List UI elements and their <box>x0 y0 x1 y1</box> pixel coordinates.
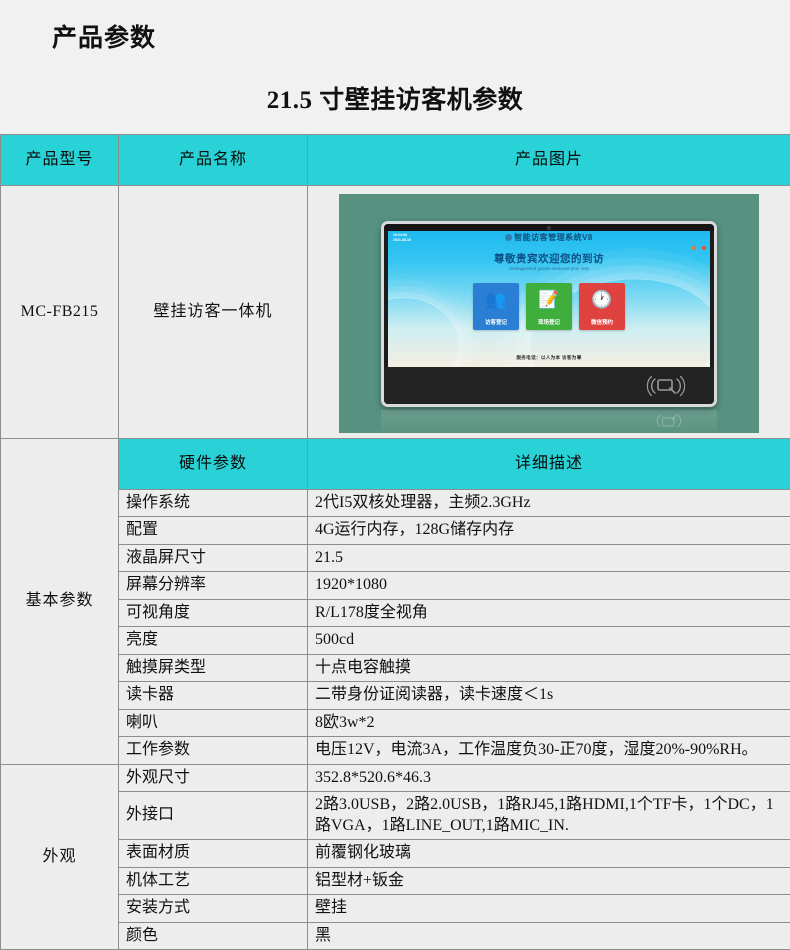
tile-onsite-registration: 📝 现场登记 <box>526 283 572 330</box>
tile-visitor-registration: 👥 访客登记 <box>473 283 519 330</box>
product-photo: 16:24:082021-08-16 智能访客管理系统V8 <box>339 194 759 433</box>
spec-key-cell: 亮度 <box>119 627 308 654</box>
table-row: 屏幕分辨率1920*1080 <box>1 572 790 599</box>
form-icon: 📝 <box>526 291 572 308</box>
device-screen: 16:24:082021-08-16 智能访客管理系统V8 <box>388 231 710 367</box>
minimize-icon <box>692 246 696 250</box>
spec-key-cell: 屏幕分辨率 <box>119 572 308 599</box>
spec-key-cell: 读卡器 <box>119 682 308 709</box>
group-label-appearance: 外观 <box>1 764 119 949</box>
header-cell-model: 产品型号 <box>1 135 119 186</box>
device-reflection <box>381 410 717 433</box>
screen-system-title: 智能访客管理系统V8 <box>388 233 710 243</box>
spec-value-cell: 4G运行内存，128G储存内存 <box>308 517 790 544</box>
device-bottom-bezel <box>384 367 714 404</box>
group-label-basic: 基本参数 <box>1 439 119 765</box>
spec-key-cell: 颜色 <box>119 922 308 949</box>
hardware-header-row: 基本参数 硬件参数 详细描述 <box>1 439 790 490</box>
product-image-cell: 16:24:082021-08-16 智能访客管理系统V8 <box>308 186 790 439</box>
tile-label-wechat-appointment: 微信预约 <box>579 320 625 327</box>
spec-key-cell: 触摸屏类型 <box>119 654 308 681</box>
spec-key-cell: 工作参数 <box>119 737 308 764</box>
table-row: 外接口2路3.0USB，2路2.0USB，1路RJ45,1路HDMI,1个TF卡… <box>1 792 790 840</box>
table-row: 喇叭8欧3w*2 <box>1 709 790 736</box>
spec-key-cell: 外接口 <box>119 792 308 840</box>
spec-value-cell: 电压12V，电流3A，工作温度负30-正70度，湿度20%-90%RH。 <box>308 737 790 764</box>
spec-key-cell: 外观尺寸 <box>119 764 308 791</box>
product-model: MC-FB215 <box>1 186 119 439</box>
spec-value-cell: 500cd <box>308 627 790 654</box>
header-cell-picture: 产品图片 <box>308 135 790 186</box>
spec-key-cell: 机体工艺 <box>119 867 308 894</box>
hardware-header-key: 硬件参数 <box>119 439 308 490</box>
spec-key-cell: 表面材质 <box>119 840 308 867</box>
table-row: 操作系统2代I5双核处理器，主频2.3GHz <box>1 490 790 517</box>
rfid-card-reader-reflection-icon <box>649 412 689 430</box>
product-row: MC-FB215 壁挂访客一体机 16:24:08 <box>1 186 790 439</box>
spec-key-cell: 喇叭 <box>119 709 308 736</box>
screen-system-title-text: 智能访客管理系统V8 <box>514 233 593 242</box>
table-row: 液晶屏尺寸21.5 <box>1 544 790 571</box>
spec-value-cell: 铝型材+钣金 <box>308 867 790 894</box>
clock-icon: 🕐 <box>579 291 625 308</box>
visitor-kiosk-device: 16:24:082021-08-16 智能访客管理系统V8 <box>381 221 717 407</box>
spec-value-cell: 前覆钢化玻璃 <box>308 840 790 867</box>
tile-label-onsite-registration: 现场登记 <box>526 320 572 327</box>
tile-label-visitor-registration: 访客登记 <box>473 320 519 327</box>
spec-value-cell: 21.5 <box>308 544 790 571</box>
spec-value-cell: R/L178度全视角 <box>308 599 790 626</box>
screen-welcome-cn: 尊敬贵宾欢迎您的到访 <box>388 253 710 266</box>
screen-footer-text: 服务电话：以人为本 访客为尊 <box>388 355 710 361</box>
document-title: 21.5 寸壁挂访客机参数 <box>0 80 790 116</box>
screen-welcome-en: Distinguished guests welcome your visit <box>388 266 710 272</box>
table-row: 机体工艺铝型材+钣金 <box>1 867 790 894</box>
table-row: 亮度500cd <box>1 627 790 654</box>
page-title: 产品参数 <box>52 18 156 54</box>
table-row: 安装方式壁挂 <box>1 895 790 922</box>
table-row: 可视角度R/L178度全视角 <box>1 599 790 626</box>
table-row: 颜色黑 <box>1 922 790 949</box>
table-row: 外观外观尺寸352.8*520.6*46.3 <box>1 764 790 791</box>
screen-topbar: 16:24:082021-08-16 智能访客管理系统V8 <box>388 231 710 247</box>
product-name: 壁挂访客一体机 <box>119 186 308 439</box>
app-logo-icon <box>505 234 512 241</box>
hardware-header-value: 详细描述 <box>308 439 790 490</box>
header-cell-name: 产品名称 <box>119 135 308 186</box>
screen-tile-group: 👥 访客登记 📝 现场登记 🕐 微信预约 <box>388 283 710 330</box>
device-top-bezel <box>384 224 714 231</box>
spec-value-cell: 十点电容触摸 <box>308 654 790 681</box>
table-header-row: 产品型号 产品名称 产品图片 <box>1 135 790 186</box>
spec-key-cell: 可视角度 <box>119 599 308 626</box>
spec-key-cell: 操作系统 <box>119 490 308 517</box>
spec-value-cell: 1920*1080 <box>308 572 790 599</box>
spec-value-cell: 2代I5双核处理器，主频2.3GHz <box>308 490 790 517</box>
visitors-icon: 👥 <box>473 291 519 308</box>
spec-value-cell: 352.8*520.6*46.3 <box>308 764 790 791</box>
table-row: 触摸屏类型十点电容触摸 <box>1 654 790 681</box>
spec-value-cell: 壁挂 <box>308 895 790 922</box>
table-row: 表面材质前覆钢化玻璃 <box>1 840 790 867</box>
spec-key-cell: 液晶屏尺寸 <box>119 544 308 571</box>
specification-table: 产品型号 产品名称 产品图片 MC-FB215 壁挂访客一体机 <box>0 134 790 950</box>
spec-key-cell: 安装方式 <box>119 895 308 922</box>
table-row: 工作参数电压12V，电流3A，工作温度负30-正70度，湿度20%-90%RH。 <box>1 737 790 764</box>
table-row: 配置4G运行内存，128G储存内存 <box>1 517 790 544</box>
table-row: 读卡器二带身份证阅读器，读卡速度＜1s <box>1 682 790 709</box>
close-icon <box>702 246 706 250</box>
camera-icon <box>547 226 551 230</box>
spec-value-cell: 黑 <box>308 922 790 949</box>
spec-value-cell: 8欧3w*2 <box>308 709 790 736</box>
product-spec-page: 产品参数 21.5 寸壁挂访客机参数 产品型号 产品名称 产品图片 MC-FB2… <box>0 0 790 923</box>
spec-key-cell: 配置 <box>119 517 308 544</box>
spec-value-cell: 二带身份证阅读器，读卡速度＜1s <box>308 682 790 709</box>
spec-value-cell: 2路3.0USB，2路2.0USB，1路RJ45,1路HDMI,1个TF卡，1个… <box>308 792 790 840</box>
tile-wechat-appointment: 🕐 微信预约 <box>579 283 625 330</box>
rfid-card-reader-icon <box>646 375 686 397</box>
